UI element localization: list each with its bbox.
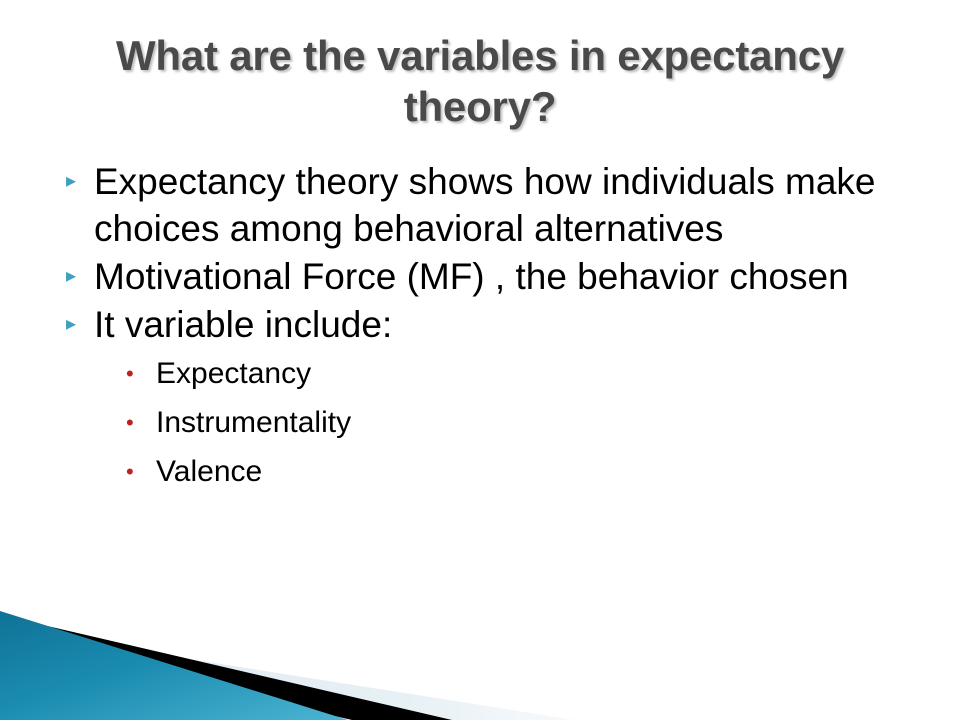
bullet-text: Motivational Force (MF) , the behavior c… xyxy=(94,253,906,300)
slide-body-placeholder: ▸ Expectancy theory shows how individual… xyxy=(62,158,942,496)
page-title: What are the variables in expectancy the… xyxy=(40,30,920,132)
dot-bullet-icon: • xyxy=(126,447,156,496)
list-item: ▸ Motivational Force (MF) , the behavior… xyxy=(62,253,942,300)
teal-triangle-shape xyxy=(0,611,348,720)
subbullet-text: Valence xyxy=(156,447,942,496)
dot-bullet-icon: • xyxy=(126,349,156,398)
black-stripe-shape xyxy=(0,615,452,720)
subbullet-text: Instrumentality xyxy=(156,398,942,447)
bullet-text: Expectancy theory shows how individuals … xyxy=(94,158,906,252)
list-item: • Expectancy xyxy=(62,349,942,398)
triangle-bullet-icon: ▸ xyxy=(62,253,94,300)
triangle-bullet-icon: ▸ xyxy=(62,301,94,348)
list-item: • Instrumentality xyxy=(62,398,942,447)
subbullet-text: Expectancy xyxy=(156,349,942,398)
list-item: ▸ Expectancy theory shows how individual… xyxy=(62,158,942,252)
list-item: ▸ It variable include: xyxy=(62,301,942,348)
slide: What are the variables in expectancy the… xyxy=(0,0,960,720)
dot-bullet-icon: • xyxy=(126,398,156,447)
slide-title-placeholder: What are the variables in expectancy the… xyxy=(40,30,920,132)
list-item: • Valence xyxy=(62,447,942,496)
triangle-bullet-icon: ▸ xyxy=(62,158,94,205)
pale-stripe-shape xyxy=(0,629,575,720)
bullet-text: It variable include: xyxy=(94,301,906,348)
decorative-corner-graphic xyxy=(0,595,600,720)
